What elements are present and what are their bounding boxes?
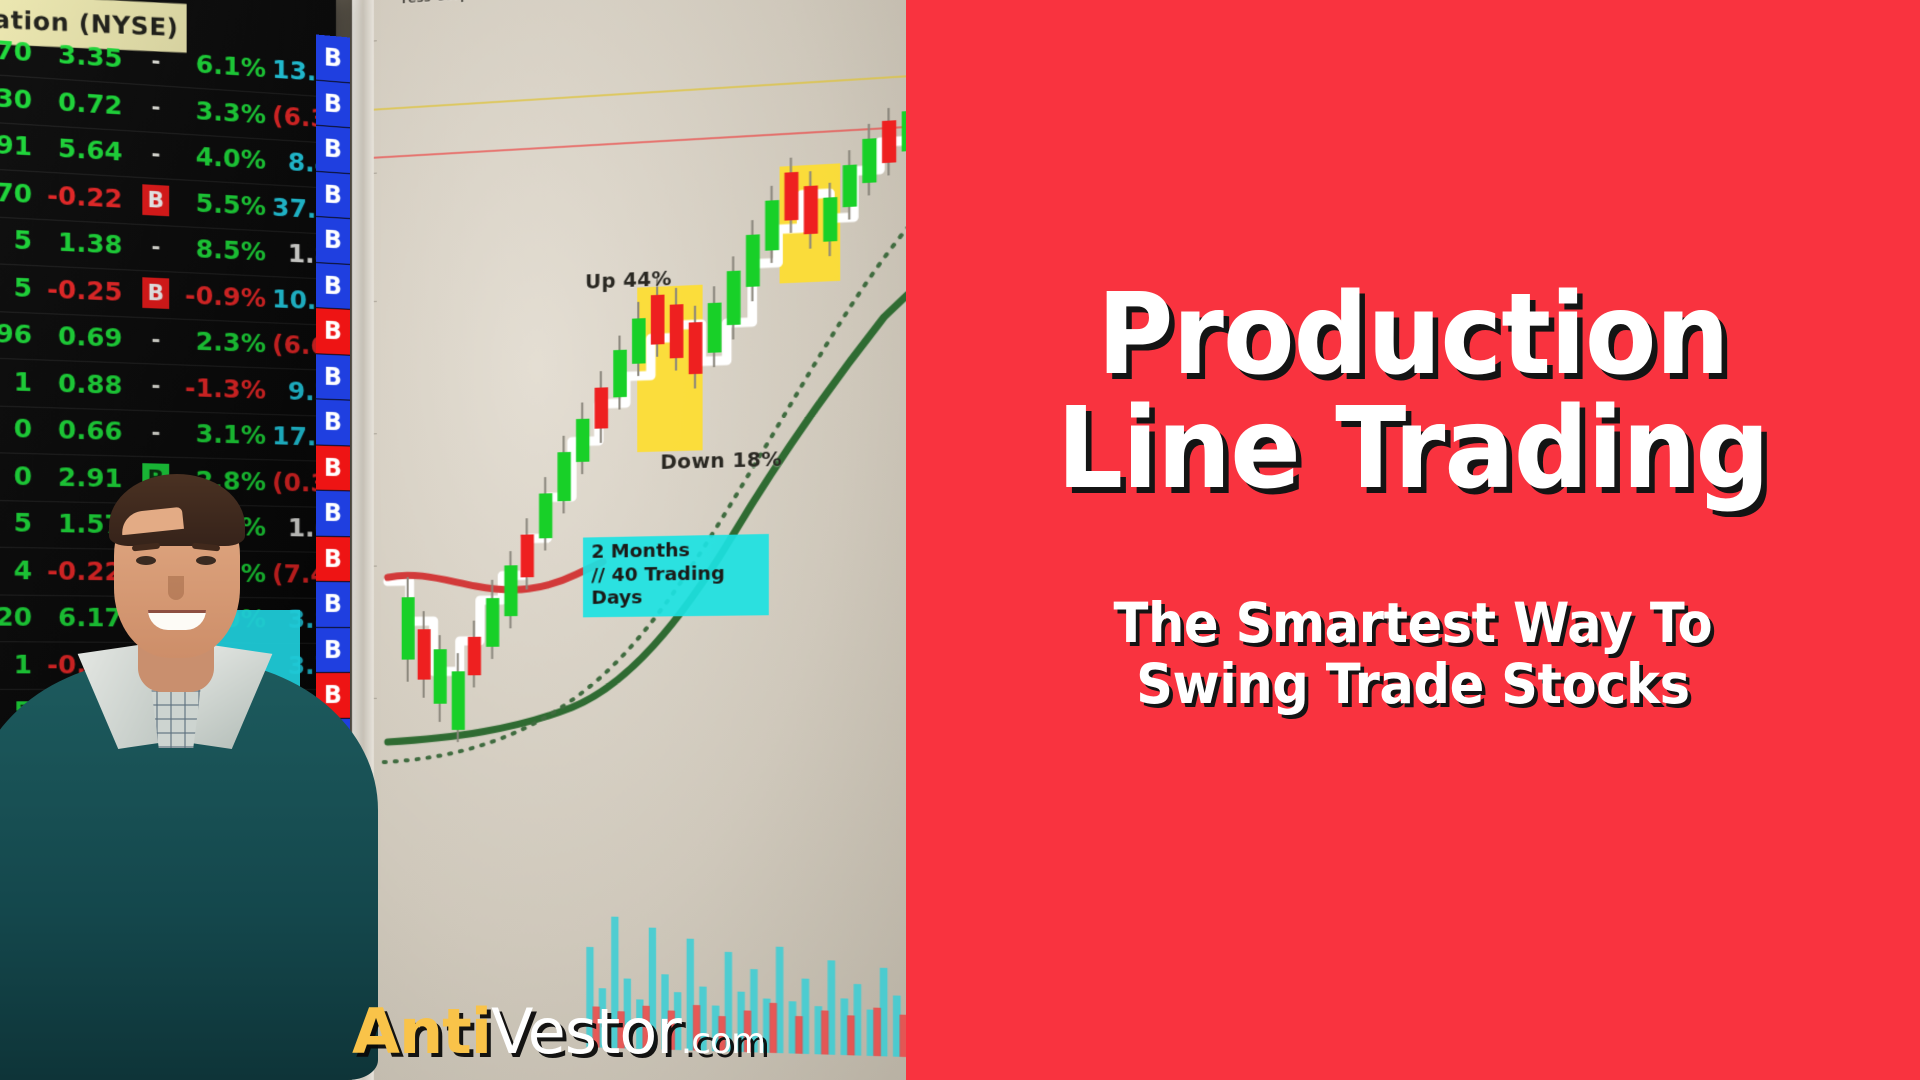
badge-b-icon: B	[316, 217, 350, 264]
eye-left	[136, 556, 156, 565]
sell-badge-icon: B	[142, 184, 169, 216]
badge-b-icon: B	[316, 126, 350, 174]
cell-change: 0.66	[36, 414, 133, 447]
price-chart: ress Corporation NYSE La$4.33 +.57 5.53%	[374, 0, 906, 1080]
callout-line-2: // 40 Trading Days	[591, 562, 760, 611]
cell-change: -0.22	[36, 179, 133, 214]
cell-last: 96	[0, 317, 36, 349]
annotation-down: Down 18%	[660, 448, 782, 474]
page-subtitle: The Smartest Way To Swing Trade Stocks	[1114, 593, 1713, 716]
callout-line-1: 2 Months	[591, 538, 760, 564]
title-panel: Production Line Trading The Smartest Way…	[906, 0, 1920, 1080]
annotation-up: Up 44%	[585, 267, 672, 293]
dash-icon: -	[142, 138, 169, 170]
badge-b-icon: B	[316, 80, 350, 128]
cell-last: 5	[0, 270, 36, 303]
cell-pct: 8.5%	[178, 233, 272, 267]
badge-b-icon: B	[316, 171, 350, 219]
title-line-2: Line Trading	[1057, 392, 1769, 506]
subtitle-line-2: Swing Trade Stocks	[1114, 654, 1713, 716]
subtitle-line-1: The Smartest Way To	[1114, 593, 1713, 655]
presenter-portrait	[10, 470, 340, 1080]
brand-logo: AntiVestor.com	[352, 995, 765, 1068]
cell-flag: -	[133, 370, 178, 402]
cell-change: 1.38	[36, 226, 133, 261]
cell-pct: 5.5%	[178, 187, 272, 221]
title-line-1: Production	[1057, 278, 1769, 392]
brand-anti: Anti	[352, 995, 491, 1068]
dash-icon: -	[142, 91, 169, 123]
brand-tld: .com	[681, 1021, 765, 1062]
cell-flag: -	[133, 44, 178, 78]
nose	[168, 576, 184, 600]
badge-b-icon: B	[316, 263, 350, 310]
cell-pct: -0.9%	[178, 279, 272, 312]
badge-b-icon: B	[316, 35, 350, 83]
cell-last: 70	[0, 175, 36, 208]
cell-last: 0	[0, 412, 36, 444]
dash-icon: -	[142, 417, 169, 448]
cell-flag: B	[133, 184, 178, 217]
cell-last: 5	[0, 223, 36, 256]
badge-b-icon: B	[316, 399, 350, 446]
callout-2-months: 2 Months // 40 Trading Days	[583, 534, 769, 617]
cell-pct: 6.1%	[178, 48, 272, 84]
cell-pct: 3.1%	[178, 418, 272, 450]
dash-icon: -	[142, 231, 169, 263]
cell-flag: -	[133, 323, 178, 355]
cell-change: 0.72	[36, 85, 133, 121]
cell-last: 91	[0, 128, 36, 162]
badge-b-icon: B	[316, 308, 350, 355]
cell-flag: -	[133, 230, 178, 263]
dash-icon: -	[142, 370, 169, 402]
dash-icon: -	[142, 45, 169, 77]
hair	[109, 474, 245, 546]
cell-flag: -	[133, 91, 178, 125]
sell-badge-icon: B	[142, 277, 169, 309]
cell-last: 30	[0, 81, 36, 115]
cell-flag: -	[133, 137, 178, 170]
dash-icon: -	[142, 324, 169, 356]
eye-right	[196, 556, 216, 565]
cell-change: 0.88	[36, 367, 133, 400]
cell-pct: 3.3%	[178, 94, 272, 129]
brand-vestor: Vestor	[491, 995, 681, 1068]
cell-flag: -	[133, 416, 178, 448]
cell-change: 5.64	[36, 132, 133, 167]
cell-change: -0.25	[36, 273, 133, 307]
cell-last: 1	[0, 365, 36, 397]
thumbnail-canvas: ress Corporation NYSE La$4.33 +.57 5.53%	[0, 0, 1920, 1080]
cell-pct: 4.0%	[178, 140, 272, 175]
photo-background: ress Corporation NYSE La$4.33 +.57 5.53%	[0, 0, 906, 1080]
cell-flag: B	[133, 277, 178, 310]
cell-pct: 2.3%	[178, 326, 272, 359]
page-title: Production Line Trading	[1057, 278, 1769, 506]
cell-pct: -1.3%	[178, 372, 272, 404]
badge-b-icon: B	[316, 354, 350, 401]
cell-change: 0.69	[36, 320, 133, 354]
cell-change: 3.35	[36, 38, 133, 74]
trading-monitor: ress Corporation NYSE La$4.33 +.57 5.53%	[352, 0, 906, 1080]
cell-last: 70	[0, 33, 36, 67]
